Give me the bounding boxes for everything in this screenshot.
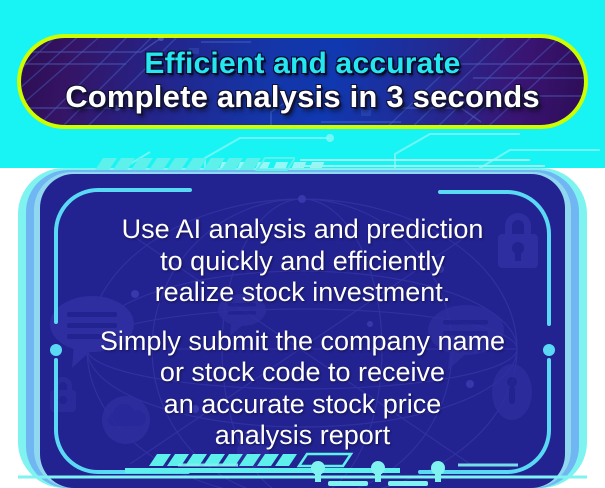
- header-banner-inner: Efficient and accurate Complete analysis…: [21, 38, 584, 125]
- panel-copy: Use AI analysis and prediction to quickl…: [40, 174, 565, 488]
- paragraph-one: Use AI analysis and prediction to quickl…: [122, 214, 484, 309]
- paragraph-one-line-1: Use AI analysis and prediction: [122, 214, 484, 246]
- banner-headline-secondary: Complete analysis in 3 seconds: [65, 81, 540, 114]
- top-rail-lines: [300, 156, 590, 186]
- main-panel: Use AI analysis and prediction to quickl…: [40, 174, 565, 488]
- bottom-node-strip: [18, 455, 587, 488]
- paragraph-two-line-1: Simply submit the company name: [100, 326, 505, 358]
- promo-banner-stage: Efficient and accurate Complete analysis…: [0, 0, 605, 488]
- paragraph-two-line-4: analysis report: [100, 420, 505, 452]
- paragraph-two: Simply submit the company name or stock …: [100, 326, 505, 452]
- main-panel-wrapper: Use AI analysis and prediction to quickl…: [18, 148, 587, 488]
- top-stripe-decoration: [95, 156, 295, 172]
- banner-text-block: Efficient and accurate Complete analysis…: [21, 38, 584, 125]
- header-banner: Efficient and accurate Complete analysis…: [17, 34, 588, 129]
- paragraph-two-line-3: an accurate stock price: [100, 389, 505, 421]
- paragraph-one-line-2: to quickly and efficiently: [122, 246, 484, 278]
- banner-headline-primary: Efficient and accurate: [144, 49, 460, 80]
- paragraph-one-line-3: realize stock investment.: [122, 277, 484, 309]
- paragraph-two-line-2: or stock code to receive: [100, 357, 505, 389]
